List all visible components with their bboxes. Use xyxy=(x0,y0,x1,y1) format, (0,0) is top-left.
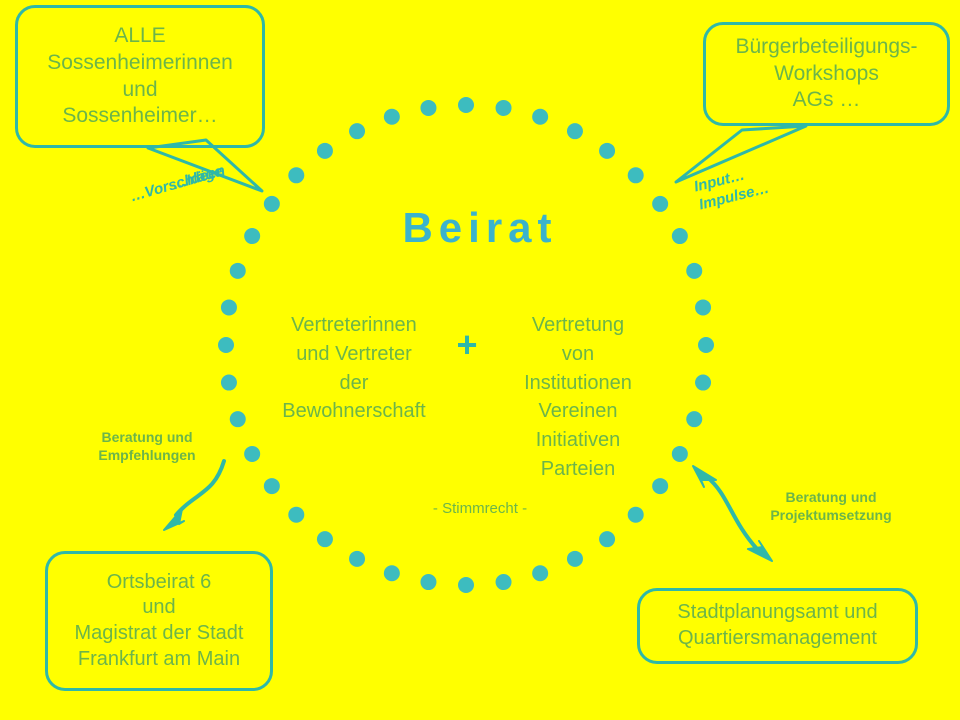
page-title: Beirat xyxy=(0,204,960,252)
ring-dot xyxy=(230,263,246,279)
members-left-column: Vertreterinnenund VertreterderBewohnersc… xyxy=(268,311,440,426)
ring-dot xyxy=(420,100,436,116)
ring-dot xyxy=(458,577,474,593)
ring-dot xyxy=(221,299,237,315)
diagram-canvas: Beirat Vertreterinnenund VertreterderBew… xyxy=(0,0,960,720)
box-ortsbeirat-text: Ortsbeirat 6undMagistrat der StadtFrankf… xyxy=(48,570,270,672)
ring-dot xyxy=(349,551,365,567)
ring-dot xyxy=(686,411,702,427)
ring-dot xyxy=(672,446,688,462)
ring-dot xyxy=(496,100,512,116)
members-right-column: VertretungvonInstitutionenVereinenInitia… xyxy=(492,311,664,484)
ring-dot xyxy=(532,109,548,125)
box-stadtplanungsamt-text: Stadtplanungsamt undQuartiersmanagement xyxy=(640,600,915,651)
ring-dot xyxy=(218,337,234,353)
ring-dot xyxy=(599,143,615,159)
ring-dot xyxy=(532,565,548,581)
box-stadtplanungsamt[interactable]: Stadtplanungsamt undQuartiersmanagement xyxy=(637,588,918,664)
callout-box-citizens[interactable]: ALLESossenheimerinnenundSossenheimer… xyxy=(15,5,265,148)
ring-dot xyxy=(317,143,333,159)
label-vorschlaege: …Vorschläge xyxy=(128,162,225,207)
arrow-right-head-up-icon xyxy=(693,466,716,487)
ring-dot xyxy=(264,478,280,494)
ring-dot xyxy=(384,109,400,125)
ring-dot xyxy=(230,411,246,427)
ring-dot xyxy=(458,97,474,113)
ring-dot xyxy=(567,551,583,567)
ring-dot xyxy=(698,337,714,353)
callout-box-workshops[interactable]: Bürgerbeteiligungs-WorkshopsAGs … xyxy=(703,22,950,126)
box-ortsbeirat[interactable]: Ortsbeirat 6undMagistrat der StadtFrankf… xyxy=(45,551,273,691)
ring-dot xyxy=(384,565,400,581)
ring-dot xyxy=(221,375,237,391)
ring-dot xyxy=(244,446,260,462)
ring-dot xyxy=(686,263,702,279)
ring-dot xyxy=(695,375,711,391)
arrow-label-left: Beratung undEmpfehlungen xyxy=(73,428,221,464)
ring-dot xyxy=(288,167,304,183)
plus-symbol: + xyxy=(443,327,491,363)
ring-dot xyxy=(317,531,333,547)
arrow-label-right: Beratung undProjektumsetzung xyxy=(742,488,920,524)
arrow-right-head-down-icon xyxy=(748,541,772,561)
ring-dot xyxy=(420,574,436,590)
callout-citizens-text: ALLESossenheimerinnenundSossenheimer… xyxy=(18,23,262,131)
ring-dot xyxy=(695,299,711,315)
callout-workshops-text: Bürgerbeteiligungs-WorkshopsAGs … xyxy=(706,34,947,115)
ring-dot xyxy=(628,167,644,183)
ring-dot xyxy=(496,574,512,590)
ring-dot xyxy=(349,123,365,139)
ring-dot xyxy=(599,531,615,547)
ring-dot xyxy=(567,123,583,139)
